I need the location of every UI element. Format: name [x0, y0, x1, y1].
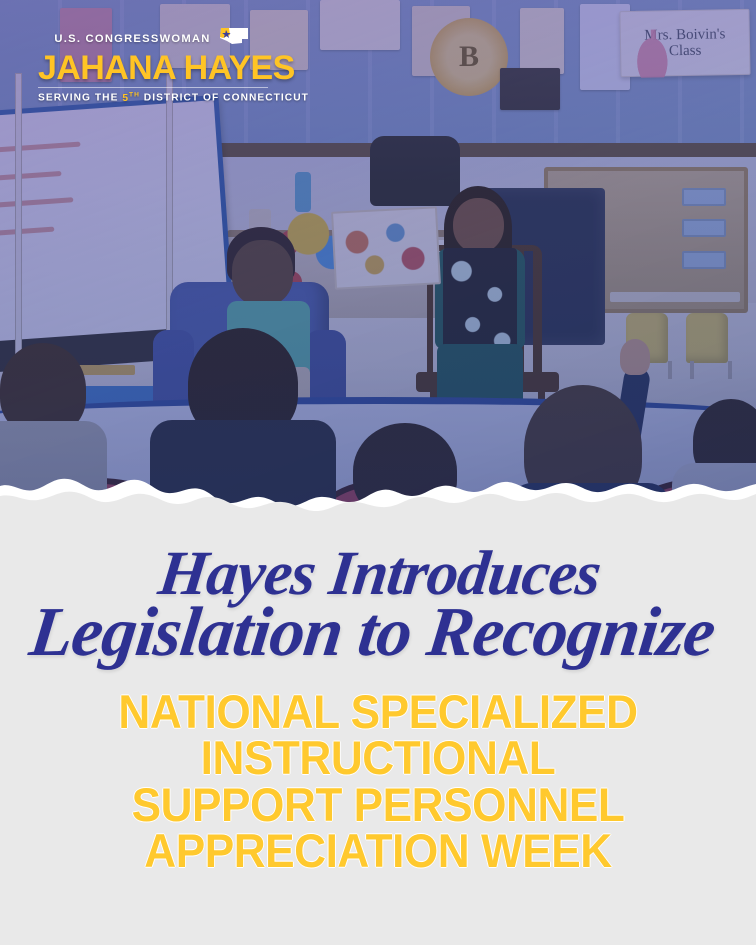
script-headline-line1: Hayes Introduces: [0, 505, 756, 603]
block-headline-line4: APPRECIATION WEEK: [23, 828, 734, 875]
block-headline-line1: NATIONAL SPECIALIZED: [23, 689, 734, 736]
logo-subtitle-ordinal: 5TH: [122, 93, 140, 104]
congresswoman-logo: U.S. CONGRESSWOMAN JAHANA HAYES SERVING …: [38, 26, 268, 104]
hero-photo: Mrs. Boivin's Class: [0, 0, 756, 522]
logo-top-row: U.S. CONGRESSWOMAN: [38, 26, 268, 51]
logo-subtitle-prefix: SERVING THE: [38, 93, 122, 104]
connecticut-state-outline-icon: [218, 26, 252, 51]
logo-subtitle-suffix: DISTRICT OF CONNECTICUT: [140, 93, 309, 104]
social-graphic-poster: Mrs. Boivin's Class: [0, 0, 756, 945]
ordinal-suffix: TH: [129, 91, 140, 98]
logo-divider: [38, 87, 268, 88]
block-headline-line3: SUPPORT PERSONNEL: [23, 782, 734, 829]
message-panel: Hayes Introduces Legislation to Recogniz…: [0, 505, 756, 945]
block-headline-line2: INSTRUCTIONAL: [23, 735, 734, 782]
logo-subtitle: SERVING THE 5TH DISTRICT OF CONNECTICUT: [38, 91, 268, 103]
logo-eyebrow: U.S. CONGRESSWOMAN: [54, 33, 210, 45]
logo-name: JAHANA HAYES: [38, 52, 268, 84]
script-headline-line2: Legislation to Recognize: [0, 599, 754, 666]
script-headline: Hayes Introduces Legislation to Recogniz…: [0, 505, 756, 667]
block-headline: NATIONAL SPECIALIZED INSTRUCTIONAL SUPPO…: [23, 689, 734, 875]
